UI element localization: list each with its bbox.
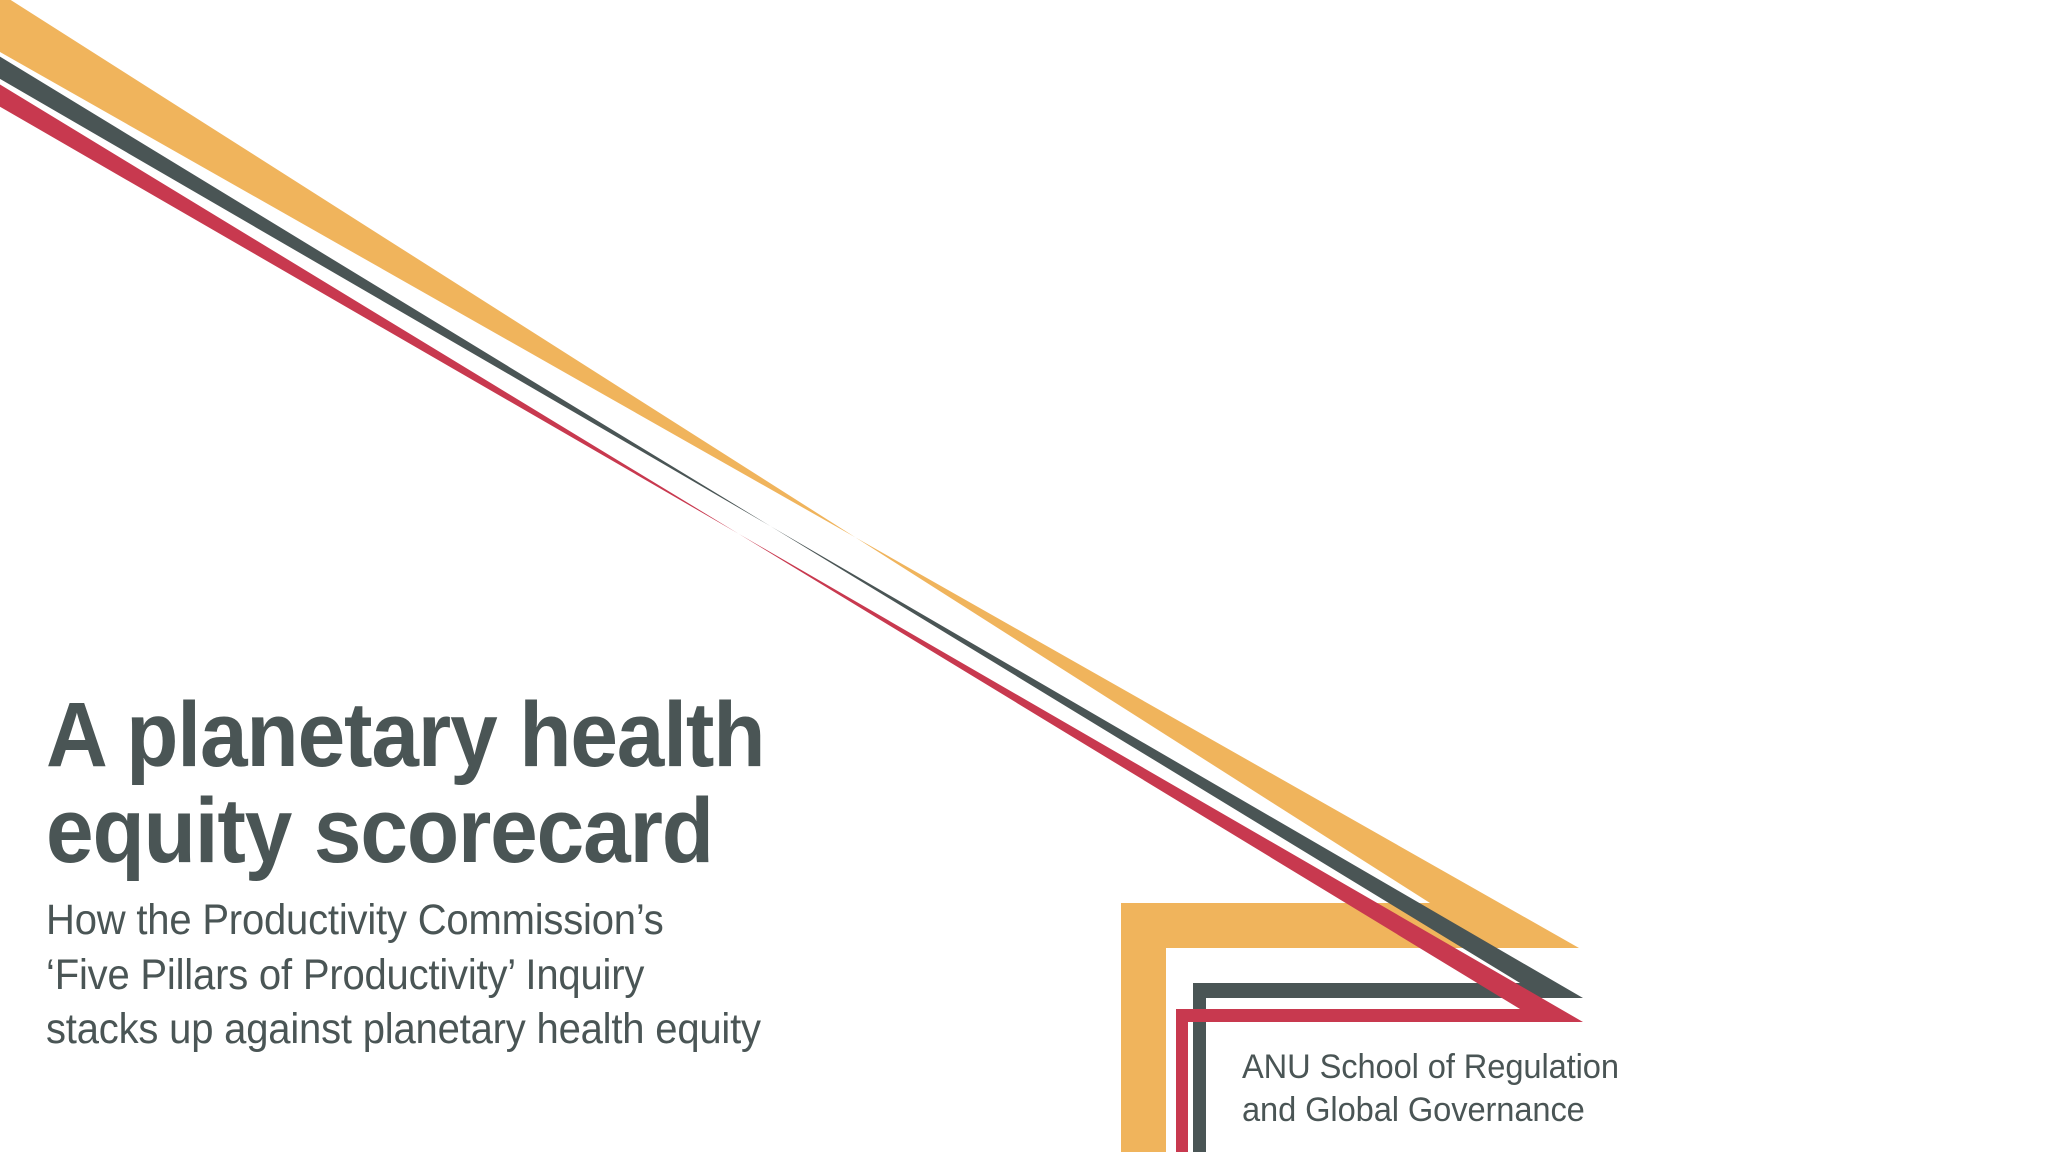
page-subtitle: How the Productivity Commission’s ‘Five … (46, 893, 995, 1056)
slide-canvas: A planetary health equity scorecard How … (0, 0, 2048, 1152)
logo-wordmark: ANU School of Regulation and Global Gove… (1242, 1046, 1619, 1132)
title-block: A planetary health equity scorecard How … (46, 688, 1066, 1056)
page-title: A planetary health equity scorecard (46, 688, 995, 879)
